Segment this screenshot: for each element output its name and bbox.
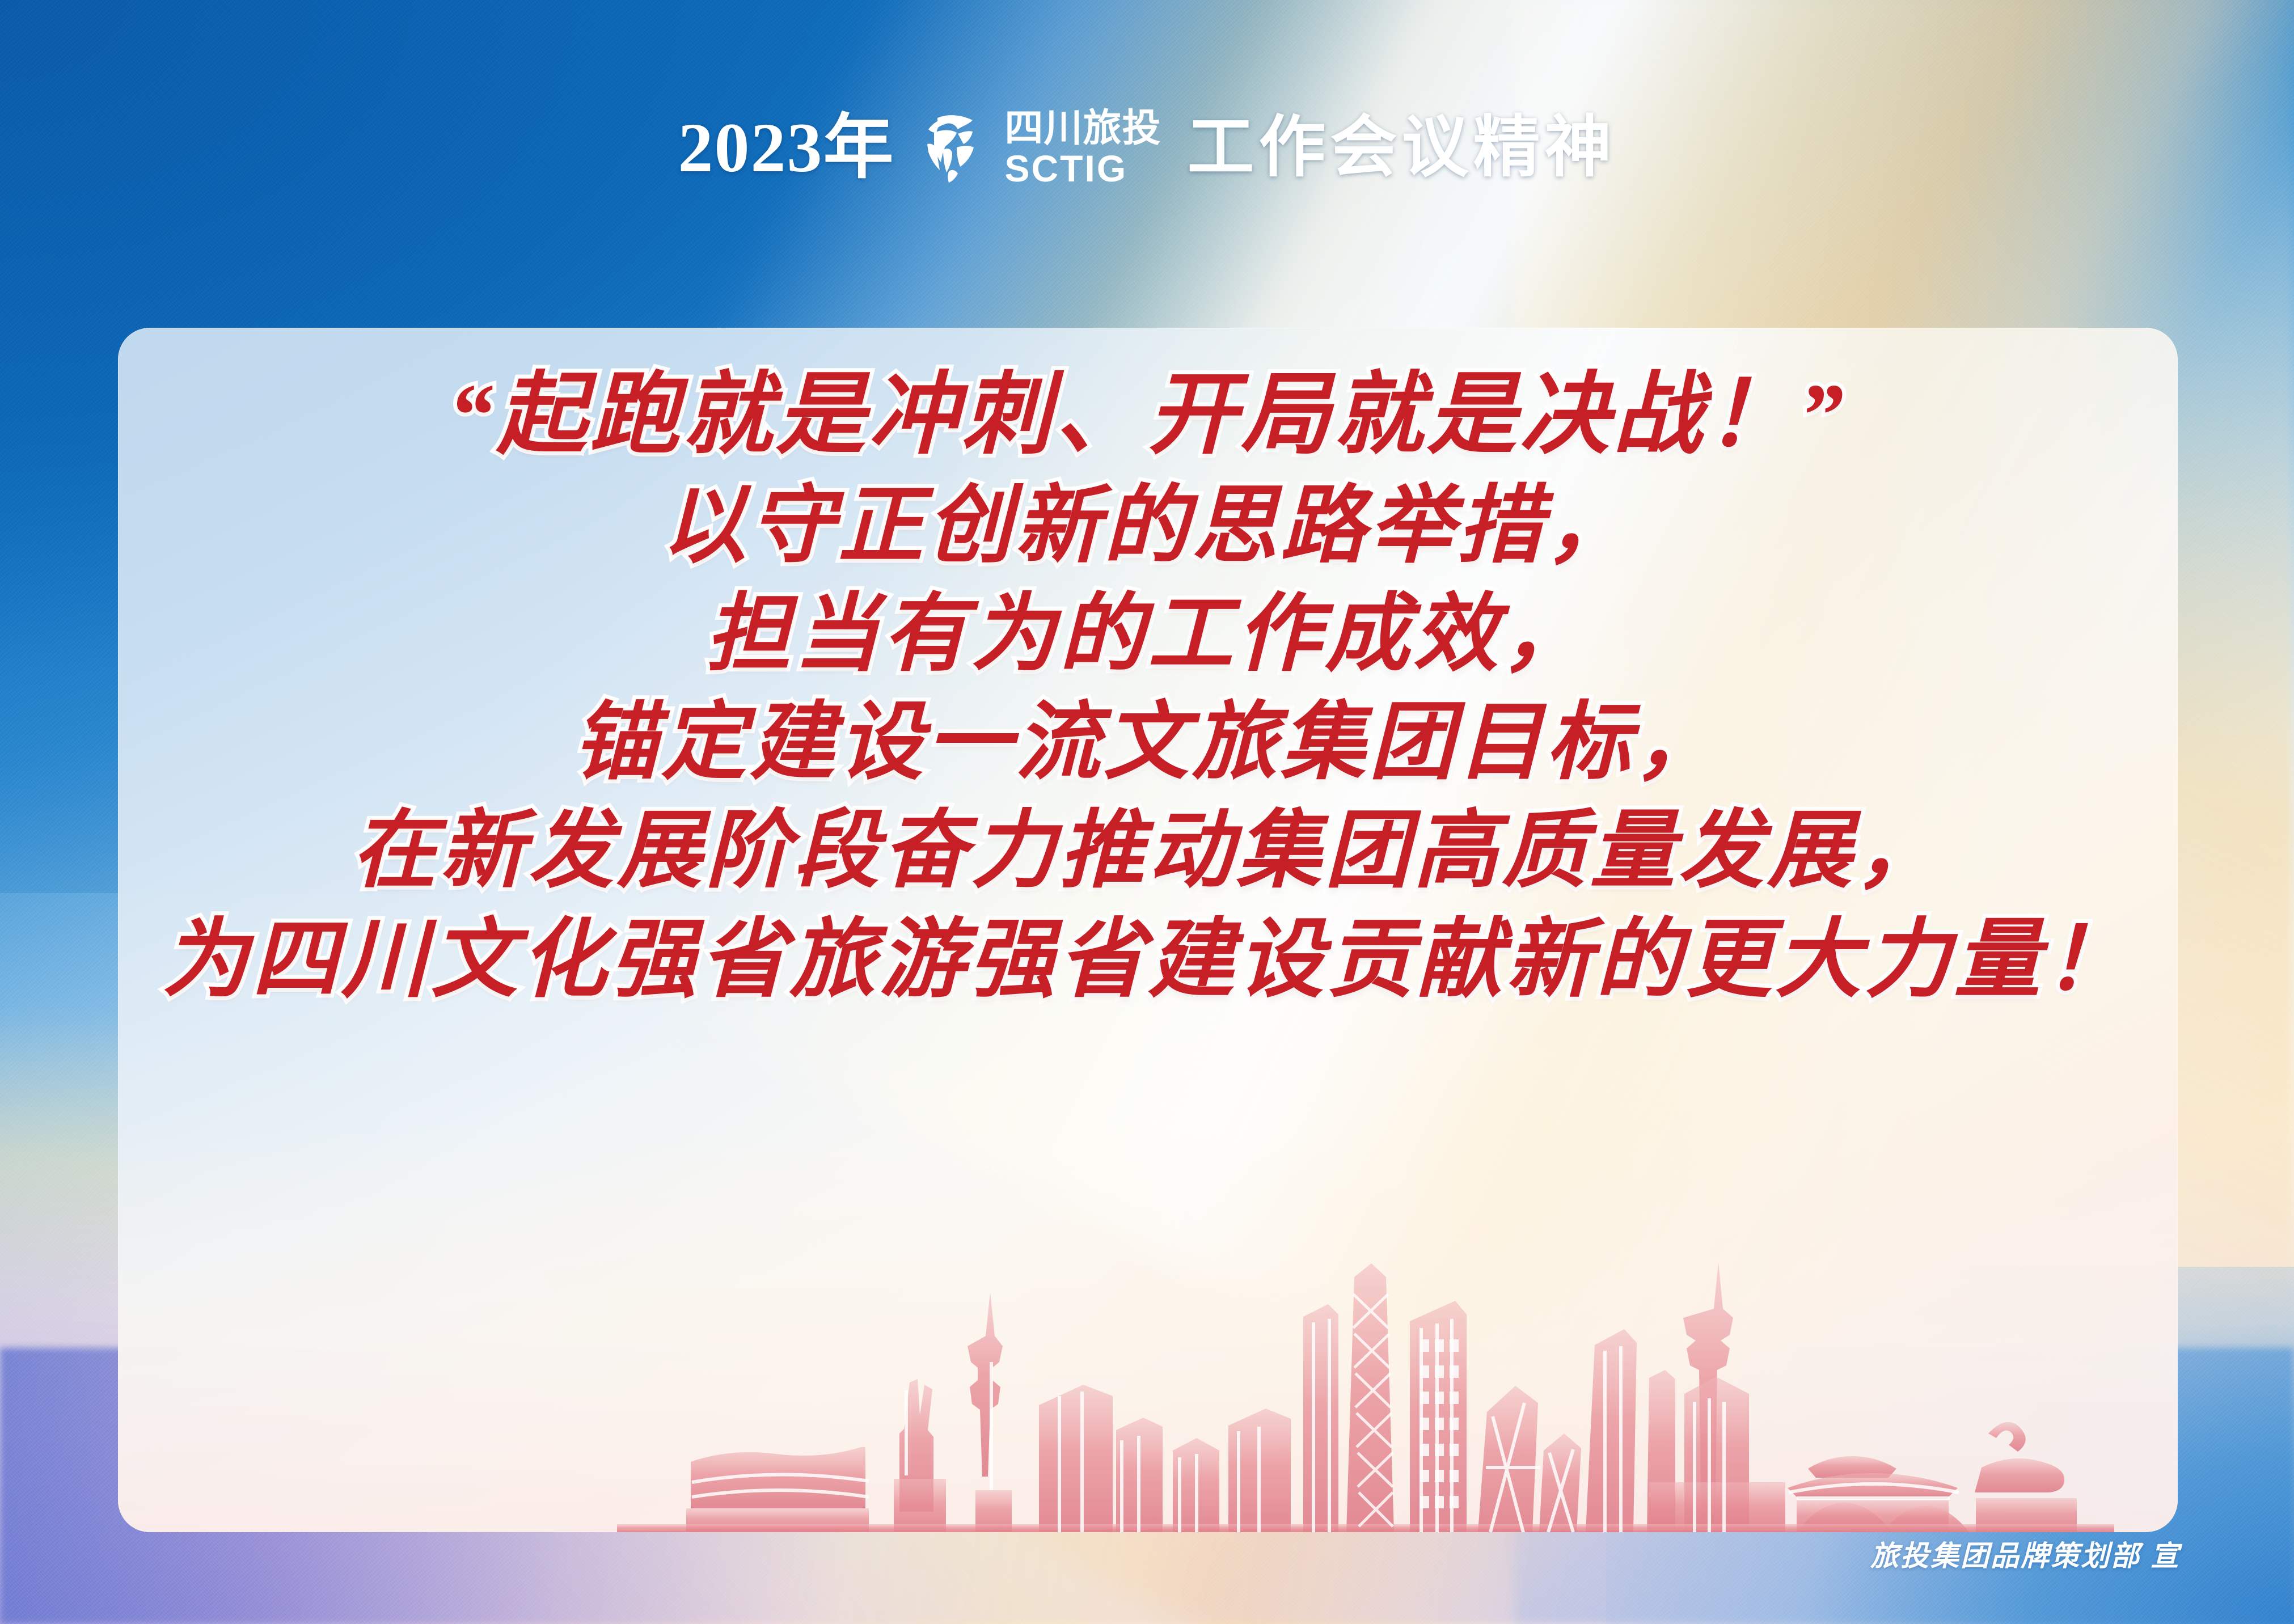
panel-warm-base bbox=[118, 1123, 2178, 1532]
header-year: 2023年 bbox=[678, 113, 894, 183]
slogan-line: 以守正创新的思路举措， bbox=[661, 476, 1634, 577]
poster-canvas: 2023年 四川旅投 SC bbox=[0, 0, 2294, 1624]
slogan-line: 锚定建设一流文旅集团目标， bbox=[573, 693, 1723, 793]
slogan-line: “起跑就是冲刺、开局就是决战！” bbox=[449, 363, 1847, 468]
slogan-line: 担当有为的工作成效， bbox=[705, 585, 1590, 685]
poster-header: 2023年 四川旅投 SC bbox=[0, 105, 2294, 191]
slogan-line: 为四川文化强省旅游强省建设贡献新的更大力量！ bbox=[162, 910, 2134, 1011]
sctig-logo: 四川旅投 SCTIG bbox=[920, 109, 1161, 187]
logo-latin-name: SCTIG bbox=[1004, 150, 1161, 187]
slogan-line: 在新发展阶段奋力推动集团高质量发展， bbox=[352, 801, 1944, 902]
globe-logo-icon bbox=[920, 112, 990, 184]
footer-credit: 旅投集团品牌策划部 宣 bbox=[1870, 1533, 2181, 1574]
logo-wordmark: 四川旅投 SCTIG bbox=[1004, 109, 1161, 187]
header-title: 工作会议精神 bbox=[1188, 115, 1616, 181]
slogan-block: “起跑就是冲刺、开局就是决战！” 以守正创新的思路举措， 担当有为的工作成效， … bbox=[118, 363, 2178, 1012]
logo-chinese-name: 四川旅投 bbox=[1004, 109, 1161, 147]
